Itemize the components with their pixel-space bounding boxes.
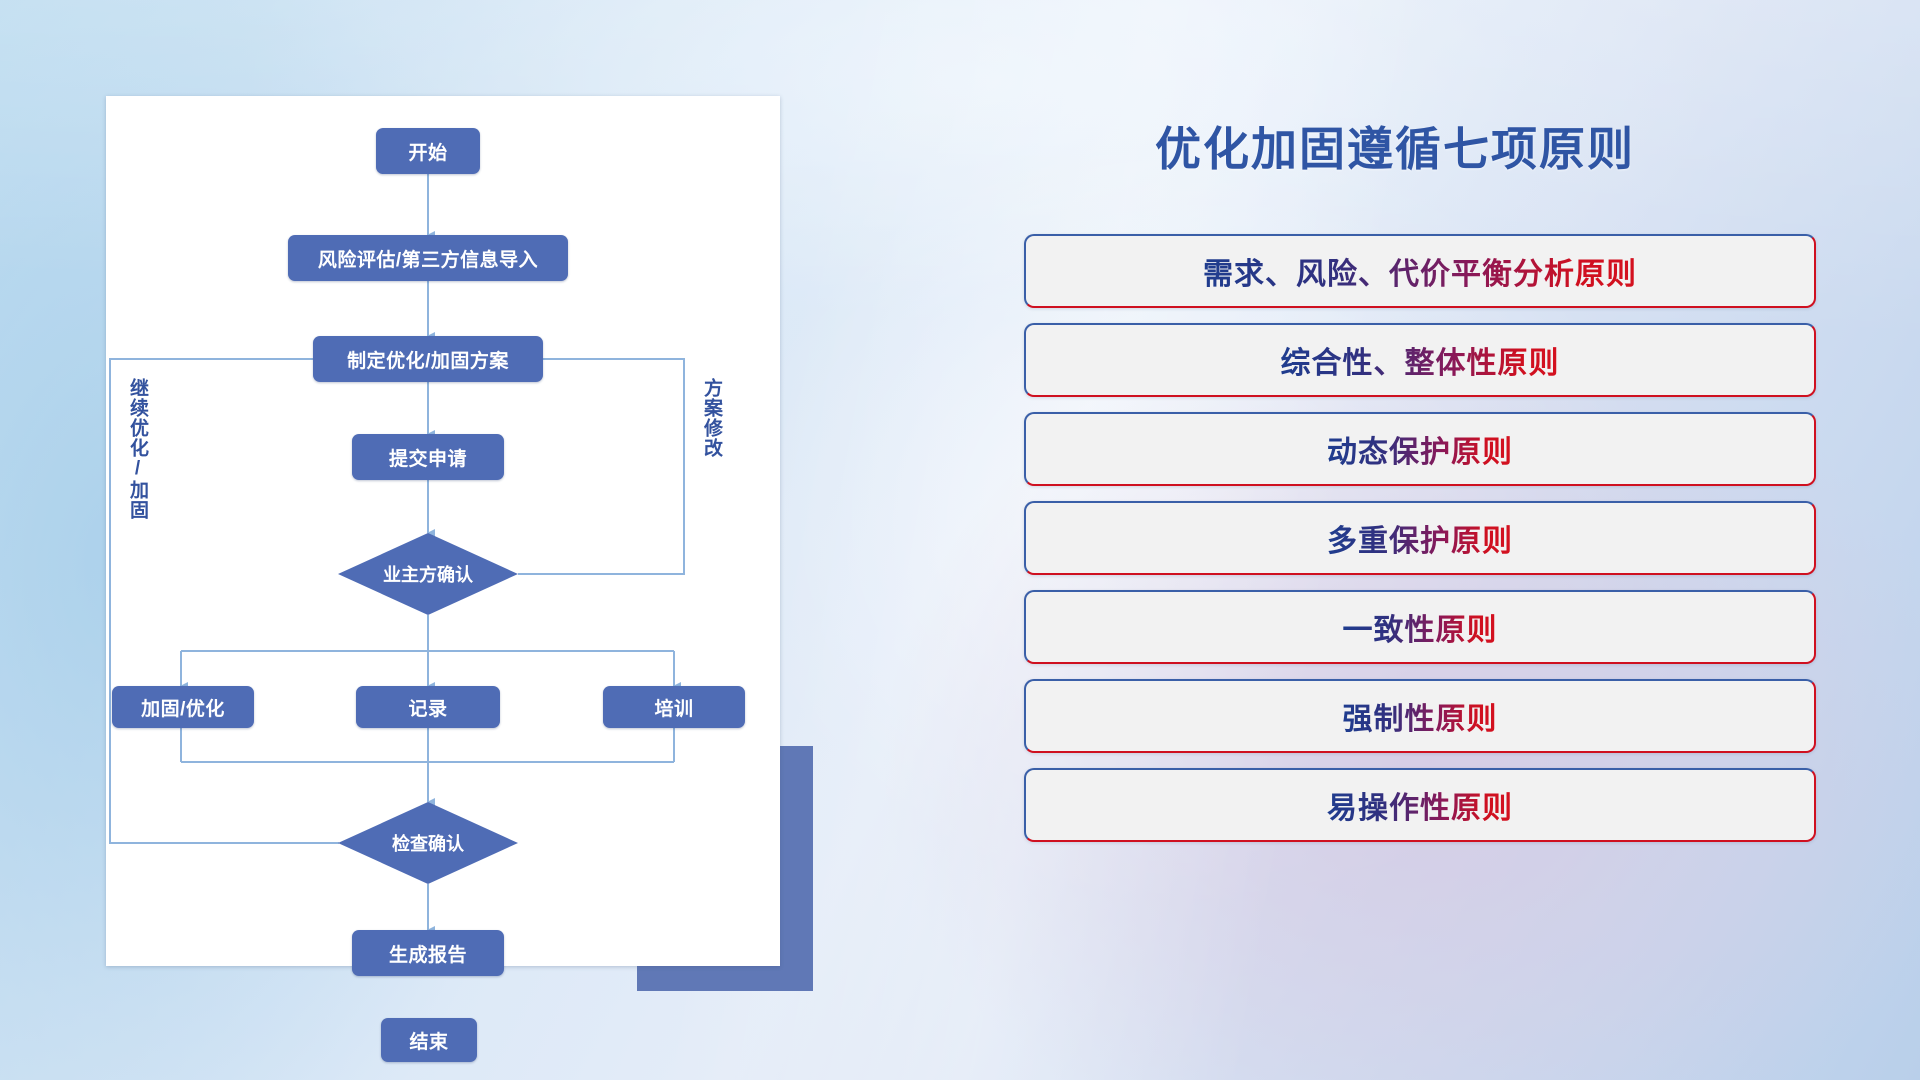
principle-list: 需求、风险、代价平衡分析原则 综合性、整体性原则 动态保护原则 多重保护原则 一… (1024, 234, 1816, 857)
flow-node-label: 检查确认 (392, 830, 464, 856)
principle-label: 强制性原则 (1343, 694, 1498, 738)
flow-edge-label-left-loop: 继续优化/加固 (128, 378, 147, 520)
principle-label: 综合性、整体性原则 (1281, 338, 1560, 382)
principle-card[interactable]: 易操作性原则 (1024, 768, 1816, 842)
flow-node-reinforce-optimize[interactable]: 加固/优化 (112, 686, 254, 728)
flow-node-generate-report[interactable]: 生成报告 (352, 930, 504, 976)
flow-node-risk-assessment[interactable]: 风险评估/第三方信息导入 (288, 235, 568, 281)
flow-node-label: 提交申请 (389, 444, 467, 471)
flow-node-end[interactable]: 结束 (381, 1018, 477, 1062)
flowchart-card: 开始 风险评估/第三方信息导入 制定优化/加固方案 提交申请 业主方确认 加固/… (106, 96, 780, 966)
flow-edge-label-text: 方案修改 (701, 378, 722, 458)
principle-card[interactable]: 动态保护原则 (1024, 412, 1816, 486)
flow-node-start[interactable]: 开始 (376, 128, 480, 174)
flow-node-label: 开始 (408, 138, 447, 165)
flow-node-training[interactable]: 培训 (603, 686, 745, 728)
principle-card[interactable]: 一致性原则 (1024, 590, 1816, 664)
principle-label: 多重保护原则 (1327, 516, 1513, 560)
principle-label: 易操作性原则 (1327, 783, 1513, 827)
flow-node-label: 制定优化/加固方案 (347, 346, 509, 373)
principle-card[interactable]: 多重保护原则 (1024, 501, 1816, 575)
flow-node-label: 生成报告 (389, 940, 467, 967)
flow-node-plan[interactable]: 制定优化/加固方案 (313, 336, 543, 382)
flow-node-label: 培训 (654, 694, 693, 721)
flow-node-label: 风险评估/第三方信息导入 (318, 245, 538, 272)
flow-node-record[interactable]: 记录 (356, 686, 500, 728)
flow-edge-label-right-loop: 方案修改 (702, 378, 721, 458)
principle-label: 需求、风险、代价平衡分析原则 (1203, 249, 1637, 293)
flow-node-label: 加固/优化 (141, 694, 225, 721)
flow-edge-label-text: 继续优化/加固 (127, 378, 148, 520)
principle-card[interactable]: 需求、风险、代价平衡分析原则 (1024, 234, 1816, 308)
flow-node-label: 结束 (409, 1027, 448, 1054)
flow-node-label: 业主方确认 (383, 561, 473, 587)
principle-label: 一致性原则 (1343, 605, 1498, 649)
flow-node-submit-application[interactable]: 提交申请 (352, 434, 504, 480)
flow-node-label: 记录 (408, 694, 447, 721)
principle-label: 动态保护原则 (1327, 427, 1513, 471)
principle-card[interactable]: 强制性原则 (1024, 679, 1816, 753)
page-title: 优化加固遵循七项原则 (1155, 113, 1635, 179)
principle-card[interactable]: 综合性、整体性原则 (1024, 323, 1816, 397)
